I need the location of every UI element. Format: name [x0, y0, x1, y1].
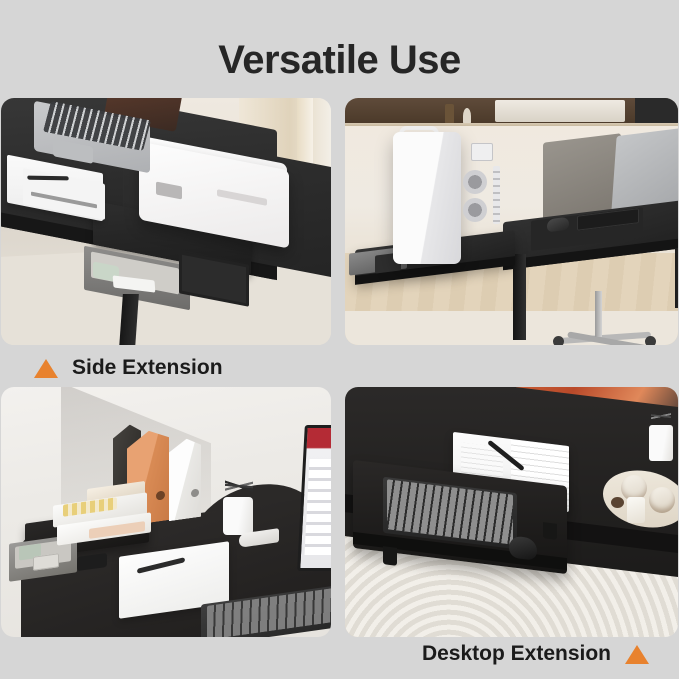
coffee-cup-two: [649, 487, 675, 513]
pen-cup: [223, 497, 253, 535]
file-holder-white: [169, 437, 201, 521]
pc-tower: [393, 132, 461, 264]
scene-side-extension-printer: [1, 98, 331, 345]
tray-bracket-secondary: [543, 522, 557, 540]
pen-cup: [649, 425, 673, 461]
caption-side-extension: Side Extension: [34, 356, 223, 380]
chair-post: [595, 291, 602, 337]
desk-leg-secondary: [675, 248, 678, 308]
page-title: Versatile Use: [0, 32, 679, 88]
panel-bottom-left: [1, 387, 331, 637]
pen: [27, 176, 69, 181]
panel-top-right: [345, 98, 678, 345]
chair-wheel: [645, 336, 656, 345]
snack: [611, 497, 624, 508]
pc-tower-panel: [471, 143, 493, 161]
shelf-bottle: [445, 104, 454, 124]
pc-tower-fan-lower: [463, 198, 487, 222]
shelf-books: [495, 100, 625, 122]
chair-wheel: [553, 336, 564, 345]
product-feature-poster: Versatile Use: [0, 0, 679, 679]
rug: [345, 311, 678, 345]
coffee-cup-tall: [627, 497, 645, 523]
pc-tower-fan-upper: [463, 170, 487, 194]
monitor-screen-content: [304, 459, 331, 555]
scene-side-extension-organizers: [1, 387, 331, 637]
pc-tower-ports: [493, 166, 500, 224]
shelf-vase: [463, 108, 471, 124]
shelf-dark-box: [635, 98, 678, 124]
orange-triangle-icon: [34, 359, 58, 378]
scene-side-extension-pc-tower: [345, 98, 678, 345]
panel-top-left: [1, 98, 331, 345]
orange-triangle-icon: [625, 645, 649, 664]
caption-side-extension-label: Side Extension: [72, 356, 223, 380]
panel-bottom-right: [345, 387, 678, 637]
caption-desktop-extension: Desktop Extension: [422, 642, 649, 666]
tray-bracket: [383, 546, 397, 566]
desk-leg: [513, 254, 526, 340]
scene-desktop-extension-keyboard-tray: [345, 387, 678, 637]
caption-desktop-extension-label: Desktop Extension: [422, 642, 611, 666]
